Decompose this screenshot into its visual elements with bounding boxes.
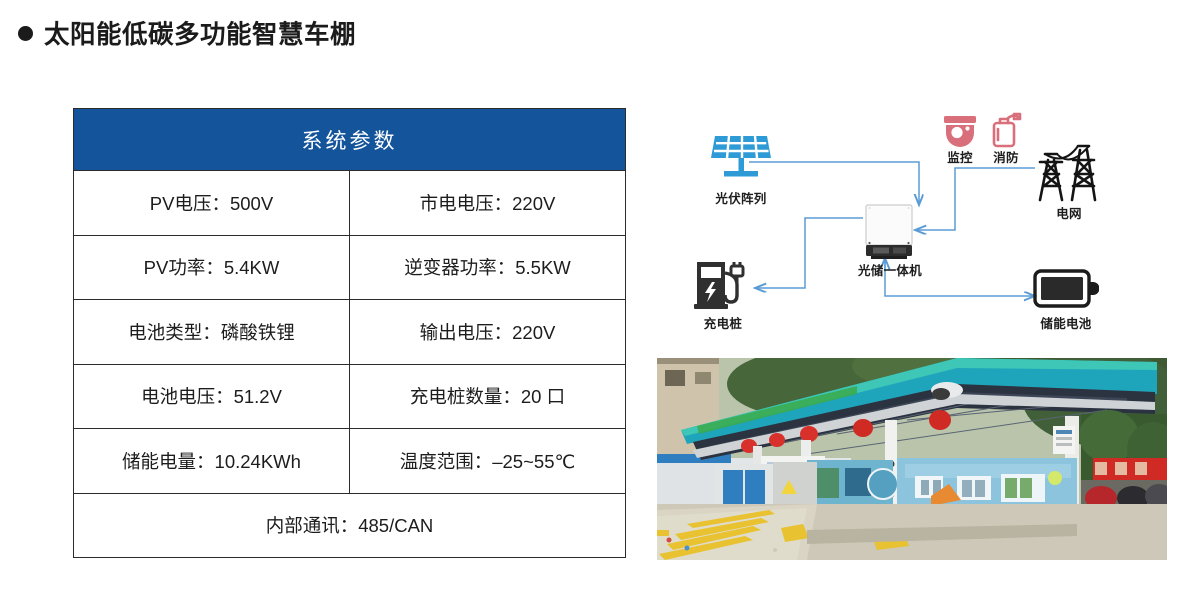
table-header-row: 系统参数	[74, 109, 626, 171]
table-row: 内部通讯：485/CAN	[74, 493, 626, 558]
cctv-camera-icon	[942, 114, 978, 148]
slide-page: 太阳能低碳多功能智慧车棚 系统参数 PV电压：500V 市电电压：220V PV…	[0, 0, 1200, 605]
battery-icon	[1033, 268, 1099, 310]
node-label-charger: 充电桩	[690, 313, 756, 332]
cell-battery-voltage: 电池电压：51.2V	[74, 364, 350, 429]
cell-mains-voltage: 市电电压：220V	[350, 171, 626, 236]
node-label-fire: 消防	[983, 147, 1029, 166]
table-row: PV电压：500V 市电电压：220V	[74, 171, 626, 236]
table-row: PV功率：5.4KW 逆变器功率：5.5KW	[74, 235, 626, 300]
cell-battery-type: 电池类型：磷酸铁锂	[74, 300, 350, 365]
charging-pile-icon	[693, 260, 755, 312]
fire-extinguisher-icon	[988, 111, 1022, 148]
table-header-cell: 系统参数	[74, 109, 626, 171]
table-row: 电池类型：磷酸铁锂 输出电压：220V	[74, 300, 626, 365]
photo-content	[657, 358, 1167, 560]
hybrid-inverter-icon	[863, 203, 915, 261]
cell-internal-comm: 内部通讯：485/CAN	[74, 493, 626, 558]
system-parameter-table: 系统参数 PV电压：500V 市电电压：220V PV功率：5.4KW 逆变器功…	[73, 108, 626, 558]
power-tower-icon	[1032, 140, 1108, 206]
node-label-pv: 光伏阵列	[699, 188, 783, 207]
table-row: 储能电量：10.24KWh 温度范围：–25~55℃	[74, 429, 626, 494]
cell-storage-capacity: 储能电量：10.24KWh	[74, 429, 350, 494]
cell-output-voltage: 输出电压：220V	[350, 300, 626, 365]
cell-inverter-power: 逆变器功率：5.5KW	[350, 235, 626, 300]
node-label-grid: 电网	[1035, 203, 1103, 222]
node-label-battery: 储能电池	[1027, 313, 1105, 332]
table-row: 电池电压：51.2V 充电桩数量：20 口	[74, 364, 626, 429]
node-label-inverter: 光储一体机	[846, 260, 934, 279]
page-title: 太阳能低碳多功能智慧车棚	[18, 14, 356, 51]
cell-pv-power: PV功率：5.4KW	[74, 235, 350, 300]
system-flow-diagram: 光伏阵列 监控 消防	[657, 100, 1169, 350]
cell-temperature-range: 温度范围：–25~55℃	[350, 429, 626, 494]
cell-charger-count: 充电桩数量：20 口	[350, 364, 626, 429]
solar-panel-icon	[707, 134, 775, 186]
arrow-grid-to-inverter	[915, 168, 1035, 230]
solar-carport-photo	[657, 358, 1167, 560]
page-title-text: 太阳能低碳多功能智慧车棚	[44, 14, 356, 51]
bullet-dot-icon	[18, 26, 33, 41]
cell-pv-voltage: PV电压：500V	[74, 171, 350, 236]
node-label-monitor: 监控	[936, 147, 984, 166]
